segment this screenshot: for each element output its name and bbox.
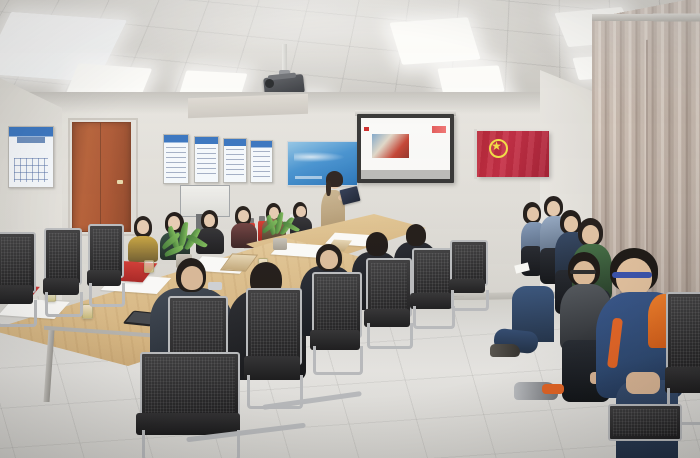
poster-chart-grid: [14, 158, 47, 182]
flag-fabric-sheen: [477, 131, 549, 177]
poster-text-lines: [226, 149, 244, 177]
shoe: [490, 344, 520, 357]
blue-header-information-poster: [223, 138, 247, 183]
door-handle-icon[interactable]: [117, 180, 123, 184]
projection-screen-lower-band: [361, 170, 450, 179]
potted-plant: [258, 212, 302, 250]
cantilever-mesh-chair[interactable]: [312, 272, 358, 372]
cantilever-mesh-chair[interactable]: [246, 288, 298, 406]
led-panel-light: [437, 65, 504, 94]
sneaker-accent: [542, 384, 564, 394]
eyeglasses-icon: [570, 270, 596, 274]
organization-chart-poster: [8, 126, 54, 188]
slide-logo-icon: [432, 126, 446, 133]
poster-text-lines: [197, 148, 215, 178]
blue-header-information-poster: [250, 140, 273, 183]
banner-caption-block: [295, 176, 323, 179]
poster-title-bar: [17, 137, 45, 142]
blue-header-information-poster: [194, 136, 219, 183]
flag-star-icon: ★: [491, 141, 502, 152]
seated-attendee-far-side: [128, 216, 158, 260]
cantilever-mesh-chair[interactable]: [44, 228, 78, 314]
presenter-hair-strand: [326, 180, 331, 196]
blue-header-information-poster: [163, 134, 189, 184]
eyeglasses-icon: [612, 272, 652, 278]
led-panel-light: [389, 17, 480, 65]
blue-graphic-wall-banner: [287, 141, 358, 186]
conference-room-photo: ★: [0, 0, 700, 458]
wooden-door[interactable]: [72, 122, 131, 232]
cantilever-mesh-chair[interactable]: [88, 224, 120, 304]
banner-graphic: [294, 151, 352, 163]
clasped-hands: [626, 372, 660, 394]
cantilever-mesh-chair[interactable]: [608, 404, 678, 458]
seated-attendee-far-side: [231, 206, 257, 248]
slide-photograph: [372, 134, 409, 158]
curtain-rod: [592, 14, 700, 22]
cantilever-mesh-chair[interactable]: [666, 292, 700, 422]
slide-left-mark: [364, 127, 369, 131]
cantilever-mesh-chair[interactable]: [450, 240, 484, 308]
poster-text-lines: [253, 151, 270, 178]
poster-text-lines: [166, 147, 185, 179]
door-panel-seam: [100, 123, 101, 229]
cantilever-mesh-chair[interactable]: [412, 248, 450, 326]
cantilever-mesh-chair[interactable]: [0, 232, 32, 324]
cantilever-mesh-chair[interactable]: [366, 258, 408, 346]
